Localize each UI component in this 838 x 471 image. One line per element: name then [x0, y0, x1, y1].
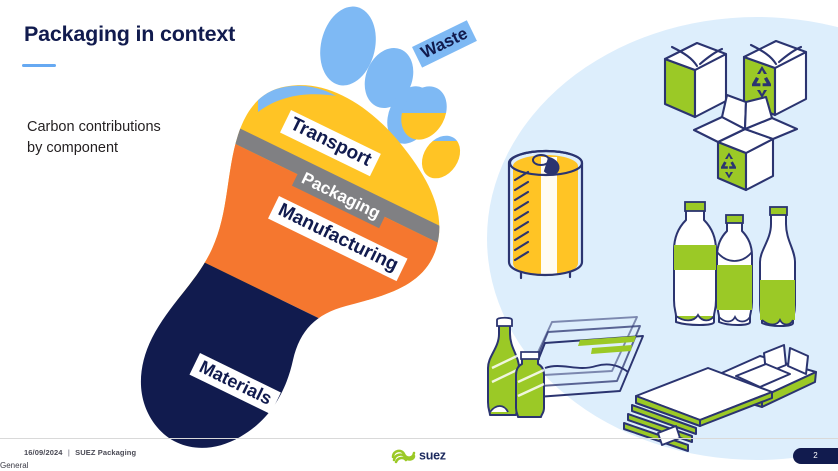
- classification-label: General: [0, 461, 28, 470]
- svg-text:suez: suez: [419, 449, 446, 463]
- cardboard-boxes-icon: [665, 41, 806, 190]
- page-number-badge: 2: [793, 448, 838, 464]
- footer-date: 16/09/2024: [24, 448, 63, 457]
- title-underline-accent: [22, 64, 56, 67]
- suez-wordmark: suez: [419, 449, 446, 463]
- footer-meta: 16/09/2024 | SUEZ Packaging: [24, 448, 136, 457]
- suez-wave-icon: [393, 451, 414, 462]
- suez-logo: suez: [389, 443, 459, 465]
- recycling-materials-illustration: [0, 0, 838, 471]
- page-title: Packaging in context: [24, 22, 235, 47]
- glass-containers-icon: [488, 317, 643, 417]
- aluminium-can-icon: [509, 151, 582, 278]
- footer-separator: |: [65, 448, 73, 457]
- slide-canvas: Waste Transport Packaging Manufacturing …: [0, 0, 838, 471]
- paper-stacks-icon: [624, 345, 816, 451]
- page-subtitle: Carbon contributionsby component: [27, 117, 161, 158]
- footer-divider: [0, 438, 838, 439]
- plastic-bottles-icon: [674, 202, 795, 326]
- footer-deck-name: SUEZ Packaging: [75, 448, 136, 457]
